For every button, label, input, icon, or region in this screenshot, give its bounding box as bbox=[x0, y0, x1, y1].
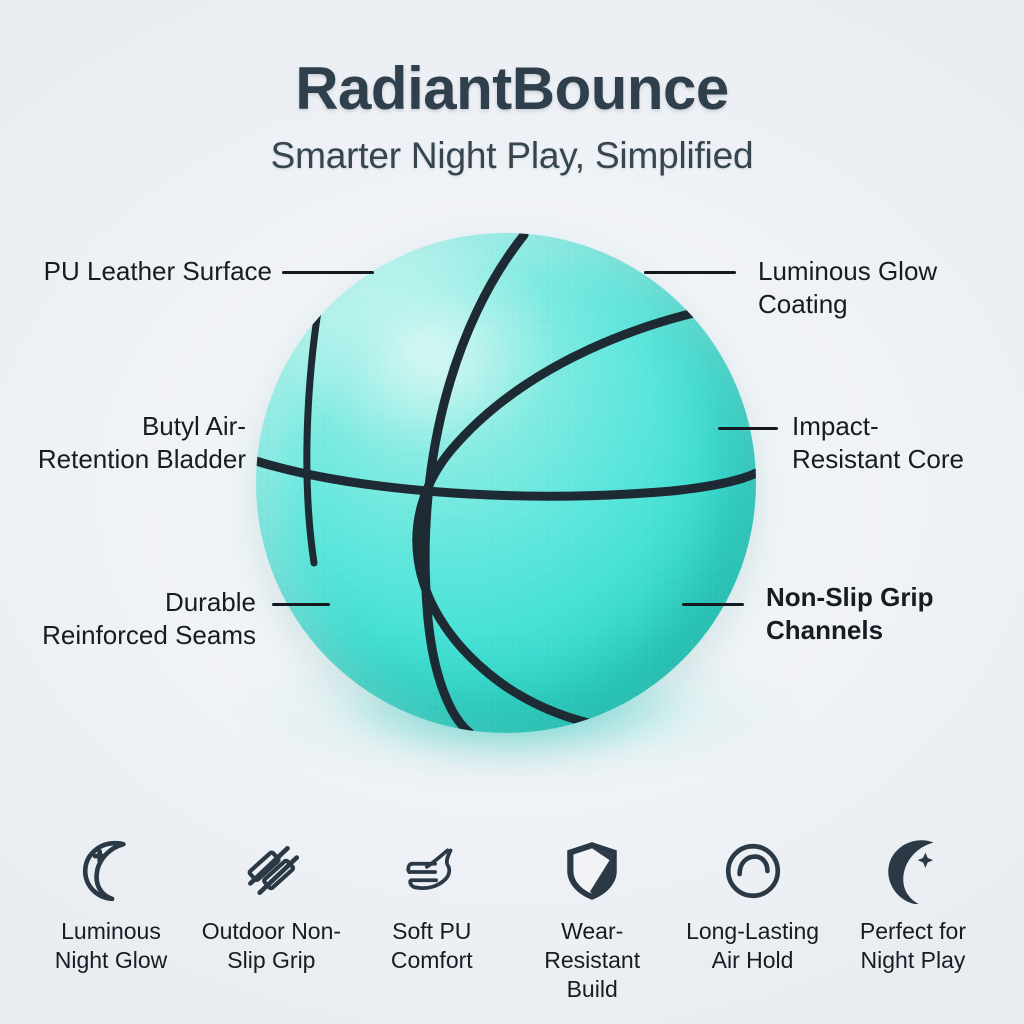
poster-header: RadiantBounce Smarter Night Play, Simpli… bbox=[0, 0, 1024, 177]
shield-half-icon bbox=[559, 835, 625, 907]
moon-star-filled-icon bbox=[880, 835, 946, 907]
callout-label: Non-Slip Grip Channels bbox=[766, 582, 934, 645]
page-subtitle: Smarter Night Play, Simplified bbox=[0, 135, 1024, 177]
leader-line-non-slip-channels bbox=[682, 603, 744, 606]
feature-label: Outdoor Non-Slip Grip bbox=[196, 917, 346, 975]
feature-label: Soft PU Comfort bbox=[357, 917, 507, 975]
feature-label: Luminous Night Glow bbox=[36, 917, 186, 975]
feature-item-luminous-night-glow: Luminous Night Glow bbox=[36, 835, 186, 975]
callout-label: Impact-Resistant Core bbox=[792, 411, 964, 474]
feature-strip: Luminous Night Glow Outdoor Non-Slip Gri… bbox=[36, 835, 988, 1020]
air-gauge-circle-icon bbox=[720, 835, 786, 907]
callout-label: Luminous Glow Coating bbox=[758, 256, 937, 319]
grip-lines-icon bbox=[238, 835, 304, 907]
callout-luminous-glow-coating: Luminous Glow Coating bbox=[758, 255, 994, 322]
leader-line-durable-seams bbox=[272, 603, 330, 606]
leader-line-pu-leather-surface bbox=[282, 271, 374, 274]
feature-label: Perfect for Night Play bbox=[838, 917, 988, 975]
callout-label: Butyl Air-Retention Bladder bbox=[38, 411, 246, 474]
basketball-illustration bbox=[256, 233, 756, 733]
callout-non-slip-grip-channels: Non-Slip Grip Channels bbox=[766, 581, 978, 648]
leader-line-impact-core bbox=[718, 427, 778, 430]
page-title: RadiantBounce bbox=[0, 54, 1024, 123]
feature-label: Long-Lasting Air Hold bbox=[678, 917, 828, 975]
callout-label: PU Leather Surface bbox=[44, 256, 272, 286]
feature-item-wear-resistant-build: Wear-Resistant Build bbox=[517, 835, 667, 1004]
feature-label: Wear-Resistant Build bbox=[517, 917, 667, 1004]
callout-label: Durable Reinforced Seams bbox=[42, 587, 256, 650]
callout-impact-resistant-core: Impact-Resistant Core bbox=[792, 410, 978, 477]
feature-item-perfect-for-night-play: Perfect for Night Play bbox=[838, 835, 988, 975]
feature-item-outdoor-non-slip-grip: Outdoor Non-Slip Grip bbox=[196, 835, 346, 975]
feature-item-long-lasting-air-hold: Long-Lasting Air Hold bbox=[678, 835, 828, 975]
callout-pu-leather-surface: PU Leather Surface bbox=[34, 255, 272, 288]
feature-item-soft-pu-comfort: Soft PU Comfort bbox=[357, 835, 507, 975]
callout-butyl-air-retention-bladder: Butyl Air-Retention Bladder bbox=[34, 410, 246, 477]
hand-touch-icon bbox=[399, 835, 465, 907]
leader-line-luminous-glow bbox=[644, 271, 736, 274]
moon-star-outline-icon bbox=[78, 835, 144, 907]
product-infographic-poster: RadiantBounce Smarter Night Play, Simpli… bbox=[0, 0, 1024, 1024]
callout-durable-reinforced-seams: Durable Reinforced Seams bbox=[34, 586, 256, 653]
product-stage: PU Leather Surface Butyl Air-Retention B… bbox=[0, 205, 1024, 765]
ball-texture bbox=[256, 233, 756, 733]
